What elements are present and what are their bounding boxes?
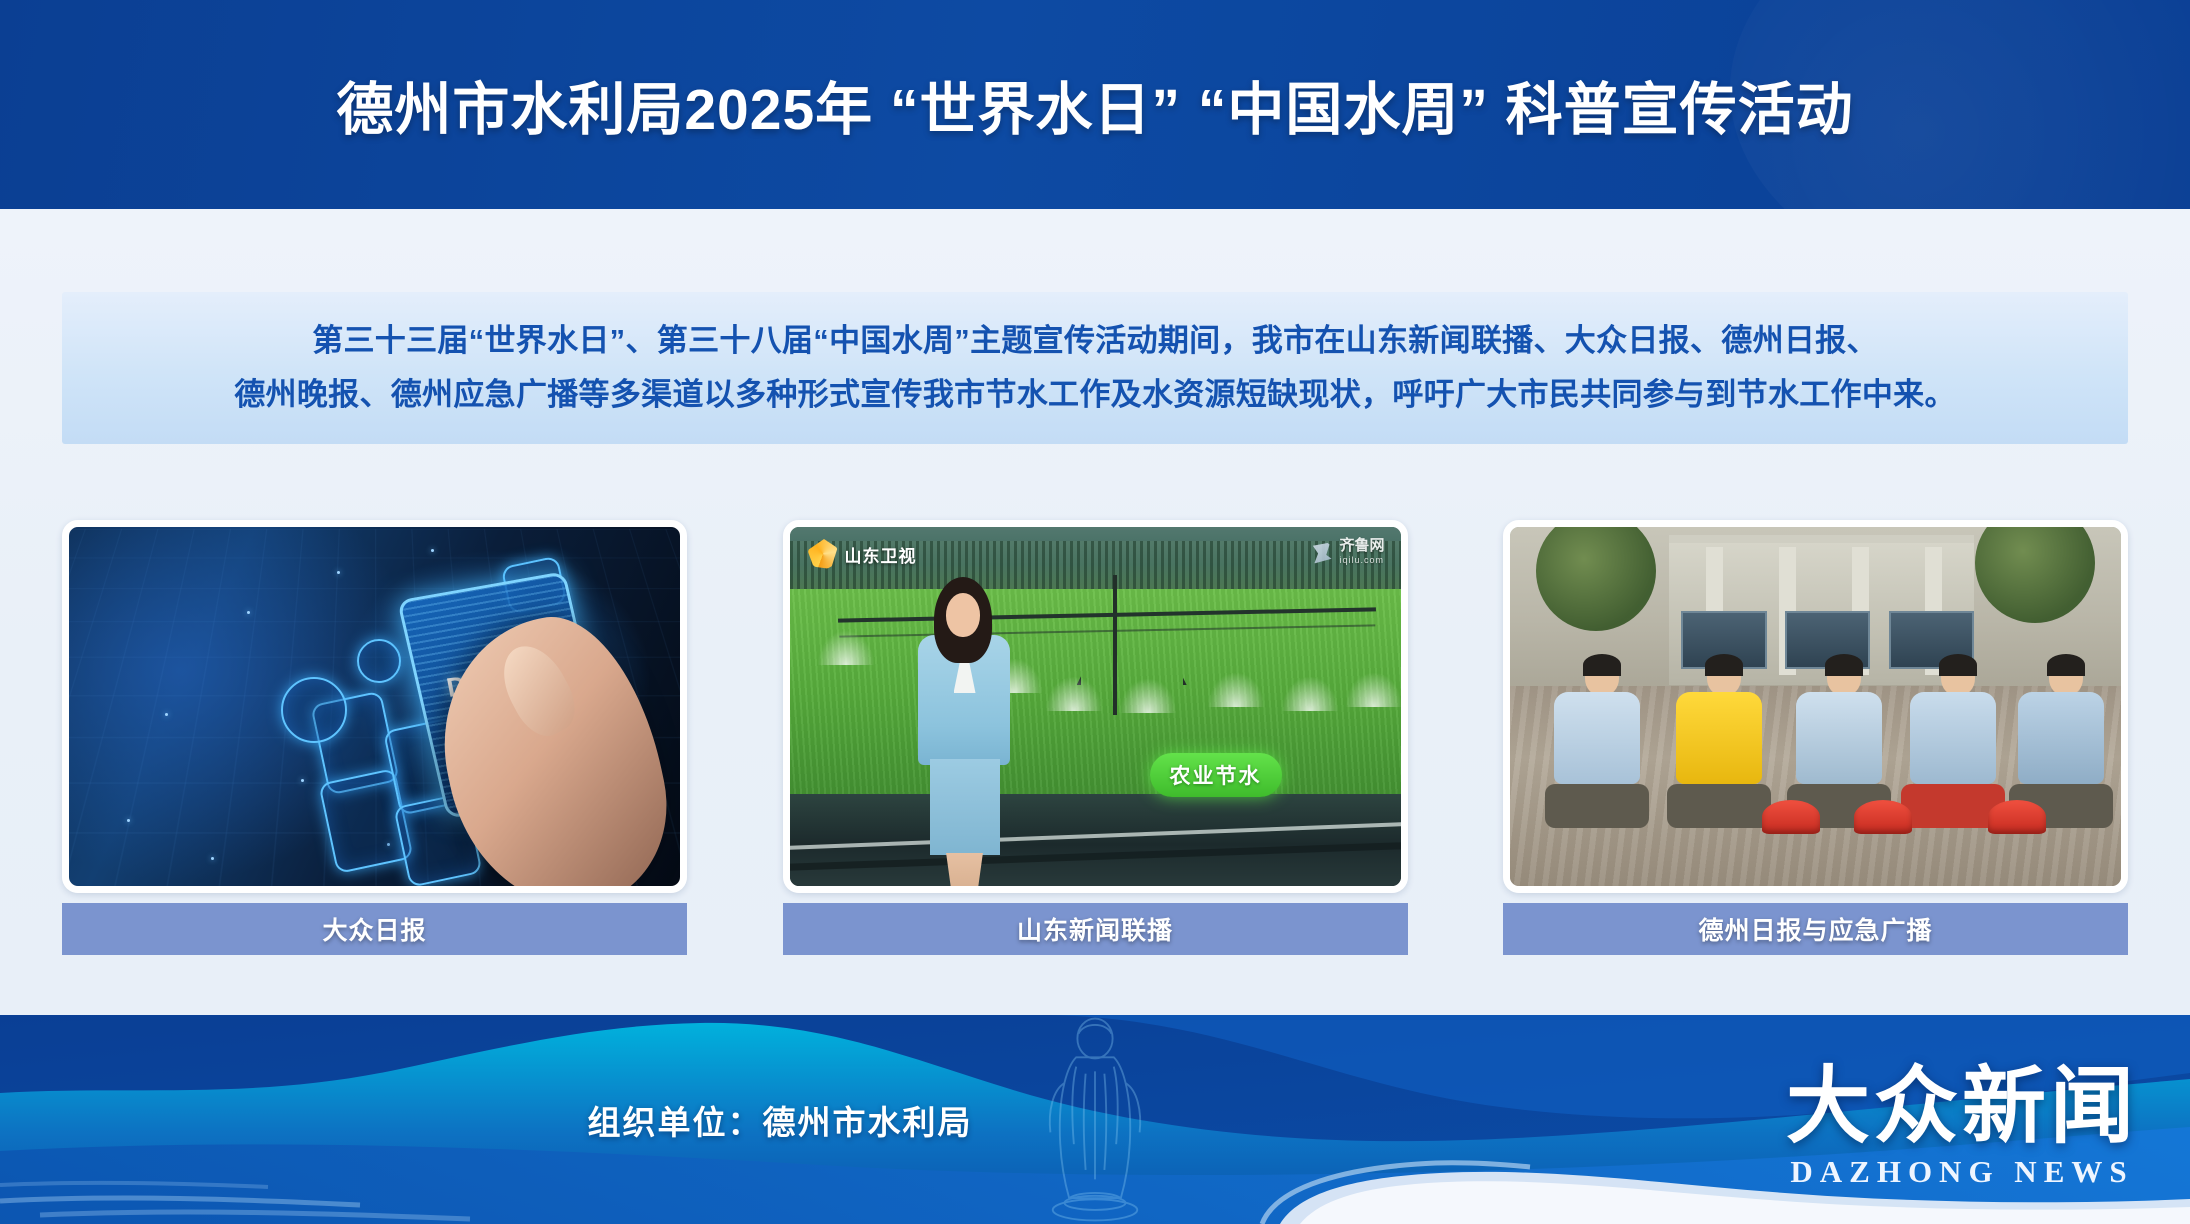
watermark-label: 齐鲁网 — [1339, 539, 1384, 553]
worker-shirt — [1796, 692, 1882, 784]
worker-2 — [1676, 658, 1771, 828]
page-header: 德州市水利局2025年 “世界水日” “中国水周” 科普宣传活动 — [0, 0, 2190, 209]
card-caption: 山东新闻联播 — [783, 903, 1408, 955]
worker-legs — [1545, 784, 1649, 828]
pivot-mast-decor — [1113, 575, 1117, 715]
media-card-row: DIGITAL TWIN 大众日报 — [62, 520, 2128, 970]
organizer-text: 组织单位：德州市水利局 — [0, 1015, 1560, 1224]
dazhong-logo-en: DAZHONG NEWS — [1790, 1154, 2133, 1190]
swirl-icon — [808, 539, 838, 569]
safety-helmet-1 — [1762, 800, 1820, 834]
channel-logo-label: 山东卫视 — [845, 542, 917, 567]
worker-hair — [1705, 654, 1743, 676]
media-card-dezhou-daily[interactable]: 德州日报与应急广播 — [1503, 520, 2128, 970]
sprinkler-spray-6 — [1282, 677, 1338, 711]
studio-floor-decor — [790, 794, 1401, 886]
iqilu-watermark: 齐鲁网 iqilu.com — [1309, 539, 1384, 567]
iqilu-mark-icon — [1309, 541, 1333, 565]
worker-hair — [2047, 654, 2085, 676]
sprinkler-spray-3 — [1046, 677, 1102, 711]
sprinkler-spray-5 — [1208, 673, 1264, 707]
tv-news-anchor-irrigation-photo: 山东卫视 齐鲁网 iqilu.com 农业节水 — [783, 520, 1408, 893]
dazhong-news-logo[interactable]: 大众新闻 DAZHONG NEWS — [1752, 1041, 2172, 1209]
worker-shirt — [1910, 692, 1996, 784]
worker-1 — [1554, 658, 1649, 828]
water-workers-resting-in-mud-photo — [1503, 520, 2128, 893]
description-line-2: 德州晚报、德州应急广播等多渠道以多种形式宣传我市节水工作及水资源短缺现状，呼吁广… — [88, 368, 2102, 422]
worker-hair — [1825, 654, 1863, 676]
safety-helmet-2 — [1854, 800, 1912, 834]
worker-legs — [1667, 784, 1771, 828]
digital-twin-touchscreen-photo: DIGITAL TWIN — [62, 520, 687, 893]
worker-4 — [1910, 658, 2005, 828]
media-card-dazhong-daily[interactable]: DIGITAL TWIN 大众日报 — [62, 520, 687, 970]
dazhong-logo-cn: 大众新闻 — [1786, 1060, 2138, 1152]
worker-shirt — [1676, 692, 1762, 784]
anchor-skirt-decor — [930, 759, 1000, 855]
worker-hair — [1939, 654, 1977, 676]
card-caption: 德州日报与应急广播 — [1503, 903, 2128, 955]
description-panel: 第三十三届“世界水日”、第三十八届“中国水周”主题宣传活动期间，我市在山东新闻联… — [62, 292, 2128, 444]
description-line-1: 第三十三届“世界水日”、第三十八届“中国水周”主题宣传活动期间，我市在山东新闻联… — [88, 314, 2102, 368]
worker-shirt — [2018, 692, 2104, 784]
worker-hair — [1583, 654, 1621, 676]
page-title: 德州市水利局2025年 “世界水日” “中国水周” 科普宣传活动 — [336, 64, 1853, 146]
gear-icon — [357, 639, 401, 683]
watermark-sublabel: iqilu.com — [1339, 553, 1384, 567]
media-card-shandong-news[interactable]: 山东卫视 齐鲁网 iqilu.com 农业节水 山东新闻联播 — [783, 520, 1408, 970]
page-footer: 组织单位：德州市水利局 大众新闻 DAZHONG NEWS — [0, 1015, 2190, 1224]
worker-shirt — [1554, 692, 1640, 784]
sprinkler-spray-7 — [1346, 673, 1402, 707]
sprinkler-spray-1 — [818, 631, 874, 665]
sprinkler-spray-4 — [1120, 679, 1176, 713]
person-circle-icon — [281, 677, 347, 743]
card-caption: 大众日报 — [62, 903, 687, 955]
shandong-tv-logo: 山东卫视 — [808, 539, 917, 569]
safety-helmet-3 — [1988, 800, 2046, 834]
anchor-face-decor — [946, 593, 980, 637]
on-screen-topic-label: 农业节水 — [1150, 753, 1282, 797]
